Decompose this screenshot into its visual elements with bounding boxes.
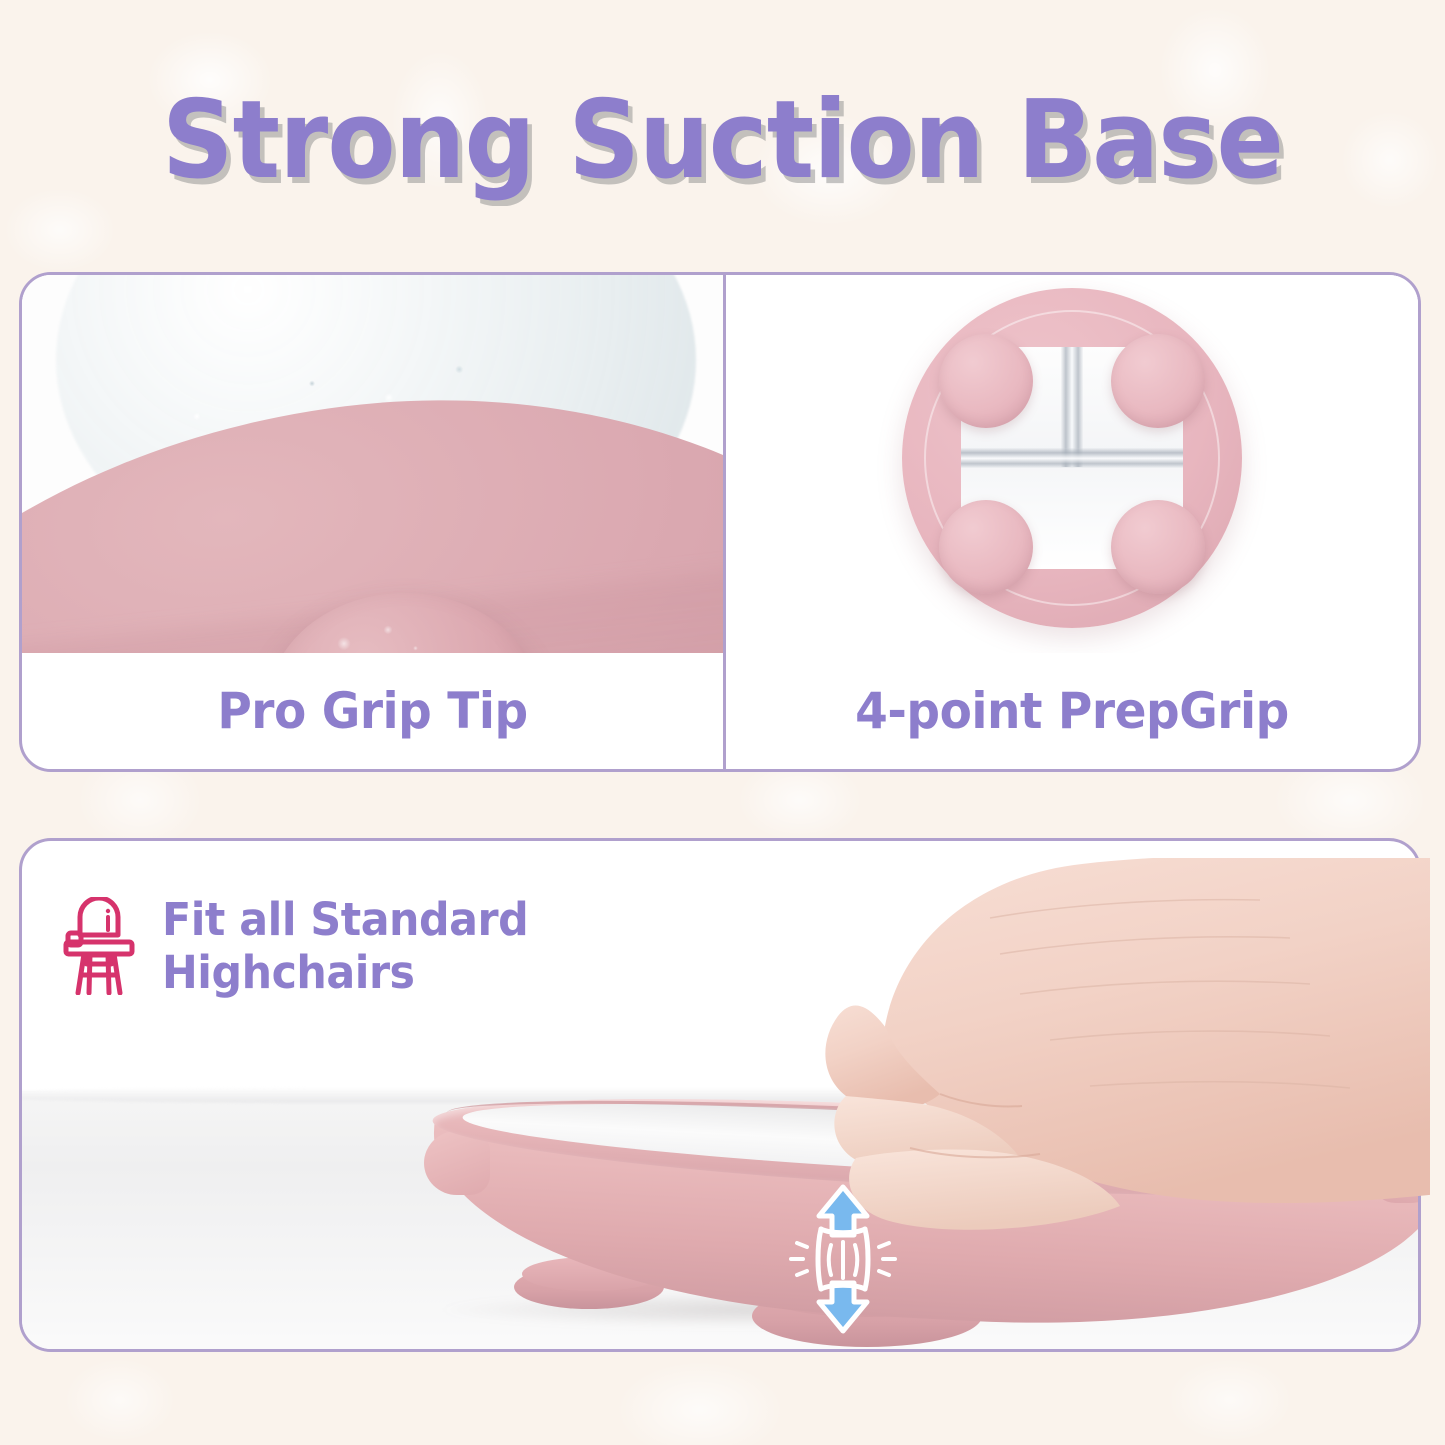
suction-cup-bottom-right: [1111, 500, 1205, 594]
glass-reflection-horizontal: [961, 448, 1183, 468]
suction-base-image: [726, 275, 1418, 653]
top-feature-panels: Pro Grip Tip 4-point PrepGrip: [19, 272, 1421, 772]
wet-suction-cup-image: [22, 275, 723, 653]
panel-pro-grip-tip: Pro Grip Tip: [22, 275, 726, 769]
caption-prep-grip: 4-point PrepGrip: [747, 653, 1397, 769]
bowl-lip-left: [424, 1131, 490, 1195]
caption-pro-grip-tip: Pro Grip Tip: [43, 653, 702, 769]
pro-grip-tip-photo: [22, 275, 723, 653]
down-arrow-icon: [819, 1283, 867, 1331]
panel-prep-grip: 4-point PrepGrip: [726, 275, 1418, 769]
suction-cup-top-left: [939, 334, 1033, 428]
suction-cup-bottom-left: [939, 500, 1033, 594]
product-infographic: Strong Suction Base Pro Grip Tip: [0, 0, 1445, 1445]
suction-cup-top-right: [1111, 334, 1205, 428]
up-arrow-icon: [819, 1187, 867, 1235]
prep-grip-photo: [726, 275, 1418, 653]
suction-stretch-icon: [783, 1183, 903, 1335]
page-title: Strong Suction Base: [58, 78, 1387, 203]
